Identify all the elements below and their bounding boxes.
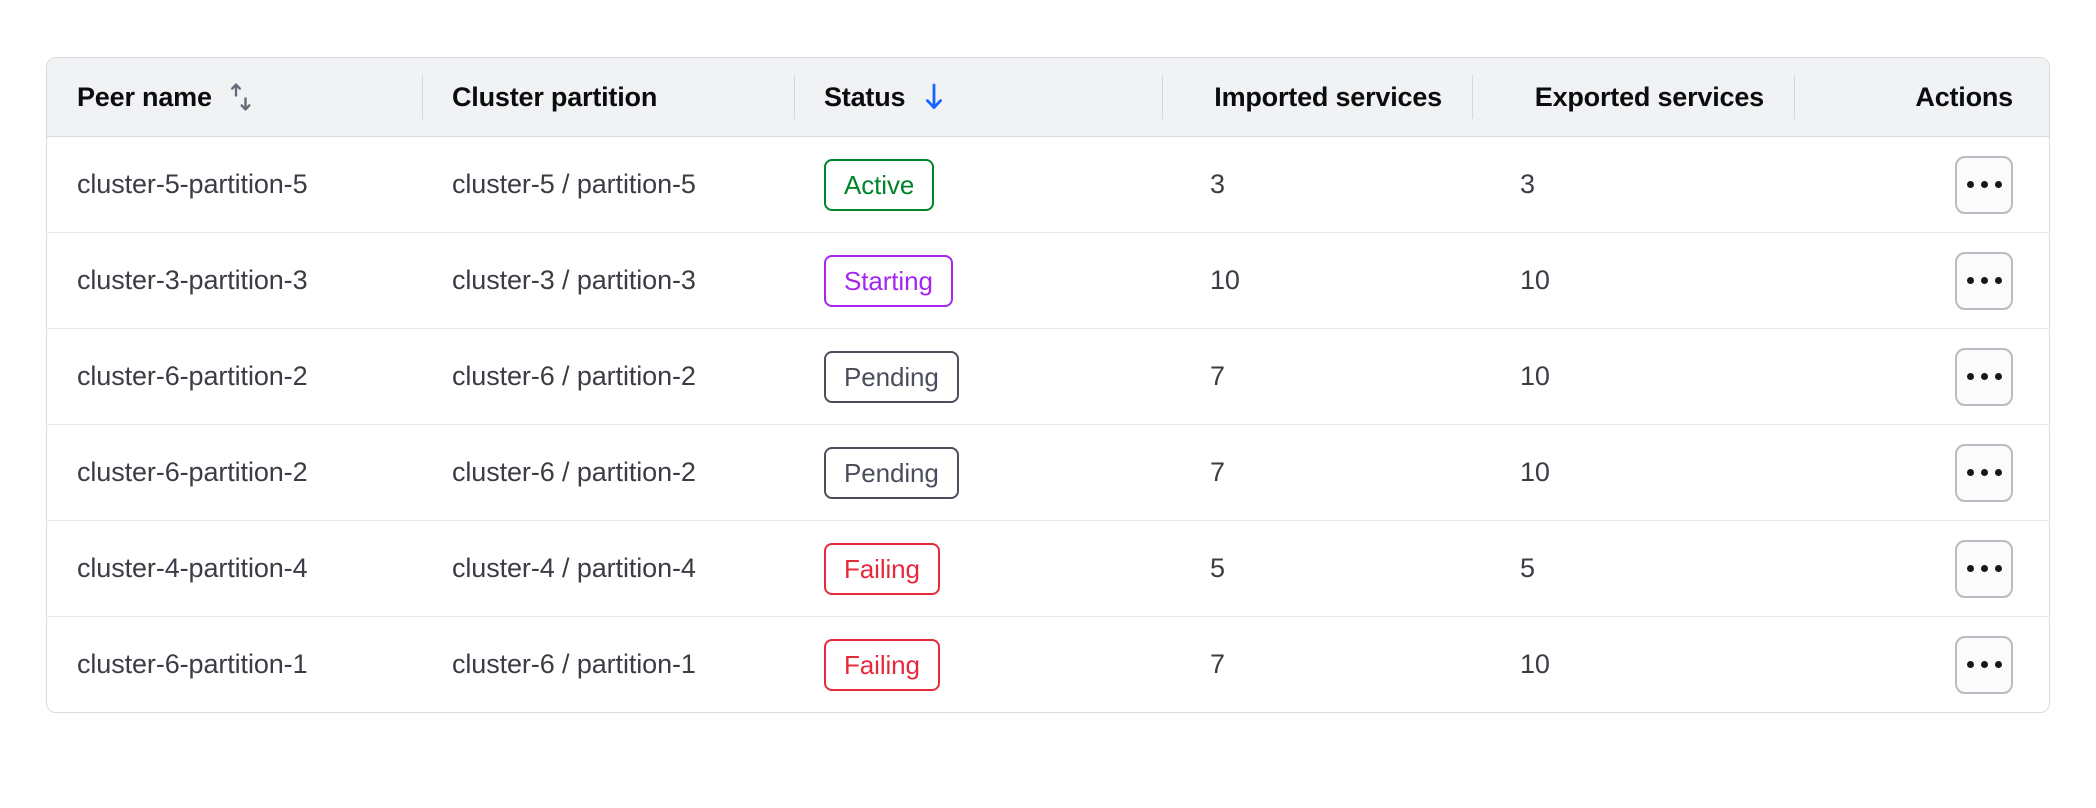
ellipsis-icon-dot [1981, 661, 1988, 668]
column-header-cluster-partition[interactable]: Cluster partition [422, 58, 794, 136]
cell-peer-name: cluster-6-partition-2 [47, 329, 422, 424]
cell-exported-services: 10 [1472, 425, 1794, 520]
cell-imported-services: 7 [1162, 329, 1472, 424]
ellipsis-icon-dot [1967, 181, 1974, 188]
table-header-row: Peer name Cluster partition [47, 58, 2049, 137]
ellipsis-icon-dot [1995, 373, 2002, 380]
ellipsis-icon-dot [1967, 373, 1974, 380]
imported-services-value: 7 [1192, 361, 1442, 392]
peer-name-text: cluster-6-partition-1 [77, 649, 308, 680]
cell-status: Failing [794, 617, 1162, 712]
cell-imported-services: 7 [1162, 617, 1472, 712]
status-badge: Starting [824, 255, 953, 307]
table-row[interactable]: cluster-6-partition-2cluster-6 / partiti… [47, 425, 2049, 521]
ellipsis-icon-dot [1967, 277, 1974, 284]
cell-cluster-partition: cluster-6 / partition-2 [422, 425, 794, 520]
column-header-actions: Actions [1794, 58, 2049, 136]
ellipsis-icon-dot [1995, 565, 2002, 572]
peer-name-text: cluster-4-partition-4 [77, 553, 308, 584]
cell-cluster-partition: cluster-5 / partition-5 [422, 137, 794, 232]
cell-imported-services: 10 [1162, 233, 1472, 328]
cell-cluster-partition: cluster-4 / partition-4 [422, 521, 794, 616]
status-badge: Failing [824, 639, 940, 691]
cell-cluster-partition: cluster-3 / partition-3 [422, 233, 794, 328]
cell-status: Pending [794, 329, 1162, 424]
exported-services-value: 10 [1502, 361, 1764, 392]
cell-exported-services: 10 [1472, 233, 1794, 328]
column-header-exported-services[interactable]: Exported services [1472, 58, 1794, 136]
column-header-label: Status [824, 82, 905, 113]
column-header-label: Actions [1915, 82, 2013, 113]
ellipsis-icon-dot [1995, 181, 2002, 188]
cluster-partition-text: cluster-6 / partition-2 [452, 457, 696, 488]
ellipsis-icon-dot [1981, 181, 1988, 188]
imported-services-value: 3 [1192, 169, 1442, 200]
imported-services-value: 10 [1192, 265, 1442, 296]
cell-imported-services: 5 [1162, 521, 1472, 616]
ellipsis-icon-dot [1995, 469, 2002, 476]
row-actions-menu-button[interactable] [1955, 540, 2013, 598]
cell-actions [1794, 137, 2049, 232]
status-badge: Active [824, 159, 934, 211]
arrow-down-icon [921, 82, 947, 112]
column-header-label: Exported services [1535, 82, 1764, 113]
cell-exported-services: 10 [1472, 329, 1794, 424]
peers-page: Peer name Cluster partition [0, 0, 2096, 808]
cell-actions [1794, 425, 2049, 520]
cell-status: Pending [794, 425, 1162, 520]
cell-exported-services: 5 [1472, 521, 1794, 616]
imported-services-value: 5 [1192, 553, 1442, 584]
table-row[interactable]: cluster-3-partition-3cluster-3 / partiti… [47, 233, 2049, 329]
peers-table: Peer name Cluster partition [46, 57, 2050, 713]
cell-actions [1794, 329, 2049, 424]
column-header-peer-name[interactable]: Peer name [47, 58, 422, 136]
peer-name-text: cluster-6-partition-2 [77, 361, 308, 392]
ellipsis-icon-dot [1981, 565, 1988, 572]
peer-name-text: cluster-3-partition-3 [77, 265, 308, 296]
cell-imported-services: 3 [1162, 137, 1472, 232]
ellipsis-icon-dot [1981, 277, 1988, 284]
cell-status: Active [794, 137, 1162, 232]
exported-services-value: 10 [1502, 649, 1764, 680]
ellipsis-icon-dot [1995, 661, 2002, 668]
cluster-partition-text: cluster-6 / partition-1 [452, 649, 696, 680]
ellipsis-icon-dot [1967, 469, 1974, 476]
cell-peer-name: cluster-4-partition-4 [47, 521, 422, 616]
cell-status: Failing [794, 521, 1162, 616]
cluster-partition-text: cluster-4 / partition-4 [452, 553, 696, 584]
column-header-status[interactable]: Status [794, 58, 1162, 136]
column-header-imported-services[interactable]: Imported services [1162, 58, 1472, 136]
row-actions-menu-button[interactable] [1955, 252, 2013, 310]
row-actions-menu-button[interactable] [1955, 636, 2013, 694]
exported-services-value: 10 [1502, 457, 1764, 488]
row-actions-menu-button[interactable] [1955, 156, 2013, 214]
cluster-partition-text: cluster-3 / partition-3 [452, 265, 696, 296]
status-badge: Pending [824, 447, 959, 499]
imported-services-value: 7 [1192, 649, 1442, 680]
exported-services-value: 3 [1502, 169, 1764, 200]
table-row[interactable]: cluster-4-partition-4cluster-4 / partiti… [47, 521, 2049, 617]
ellipsis-icon-dot [1995, 277, 2002, 284]
ellipsis-icon-dot [1981, 373, 1988, 380]
cluster-partition-text: cluster-6 / partition-2 [452, 361, 696, 392]
cell-imported-services: 7 [1162, 425, 1472, 520]
table-row[interactable]: cluster-5-partition-5cluster-5 / partiti… [47, 137, 2049, 233]
column-header-label: Cluster partition [452, 82, 657, 113]
sort-both-icon [228, 82, 254, 112]
cell-peer-name: cluster-6-partition-2 [47, 425, 422, 520]
status-badge: Failing [824, 543, 940, 595]
cell-cluster-partition: cluster-6 / partition-2 [422, 329, 794, 424]
table-row[interactable]: cluster-6-partition-1cluster-6 / partiti… [47, 617, 2049, 712]
ellipsis-icon-dot [1967, 565, 1974, 572]
ellipsis-icon-dot [1981, 469, 1988, 476]
cluster-partition-text: cluster-5 / partition-5 [452, 169, 696, 200]
ellipsis-icon-dot [1967, 661, 1974, 668]
table-body: cluster-5-partition-5cluster-5 / partiti… [47, 137, 2049, 712]
status-badge: Pending [824, 351, 959, 403]
cell-status: Starting [794, 233, 1162, 328]
cell-peer-name: cluster-5-partition-5 [47, 137, 422, 232]
table-row[interactable]: cluster-6-partition-2cluster-6 / partiti… [47, 329, 2049, 425]
cell-peer-name: cluster-6-partition-1 [47, 617, 422, 712]
cell-cluster-partition: cluster-6 / partition-1 [422, 617, 794, 712]
column-header-label: Peer name [77, 82, 212, 113]
column-header-label: Imported services [1214, 82, 1442, 113]
row-actions-menu-button[interactable] [1955, 444, 2013, 502]
cell-actions [1794, 521, 2049, 616]
imported-services-value: 7 [1192, 457, 1442, 488]
cell-peer-name: cluster-3-partition-3 [47, 233, 422, 328]
cell-actions [1794, 233, 2049, 328]
row-actions-menu-button[interactable] [1955, 348, 2013, 406]
peer-name-text: cluster-6-partition-2 [77, 457, 308, 488]
cell-exported-services: 10 [1472, 617, 1794, 712]
exported-services-value: 5 [1502, 553, 1764, 584]
peer-name-text: cluster-5-partition-5 [77, 169, 308, 200]
cell-actions [1794, 617, 2049, 712]
cell-exported-services: 3 [1472, 137, 1794, 232]
exported-services-value: 10 [1502, 265, 1764, 296]
